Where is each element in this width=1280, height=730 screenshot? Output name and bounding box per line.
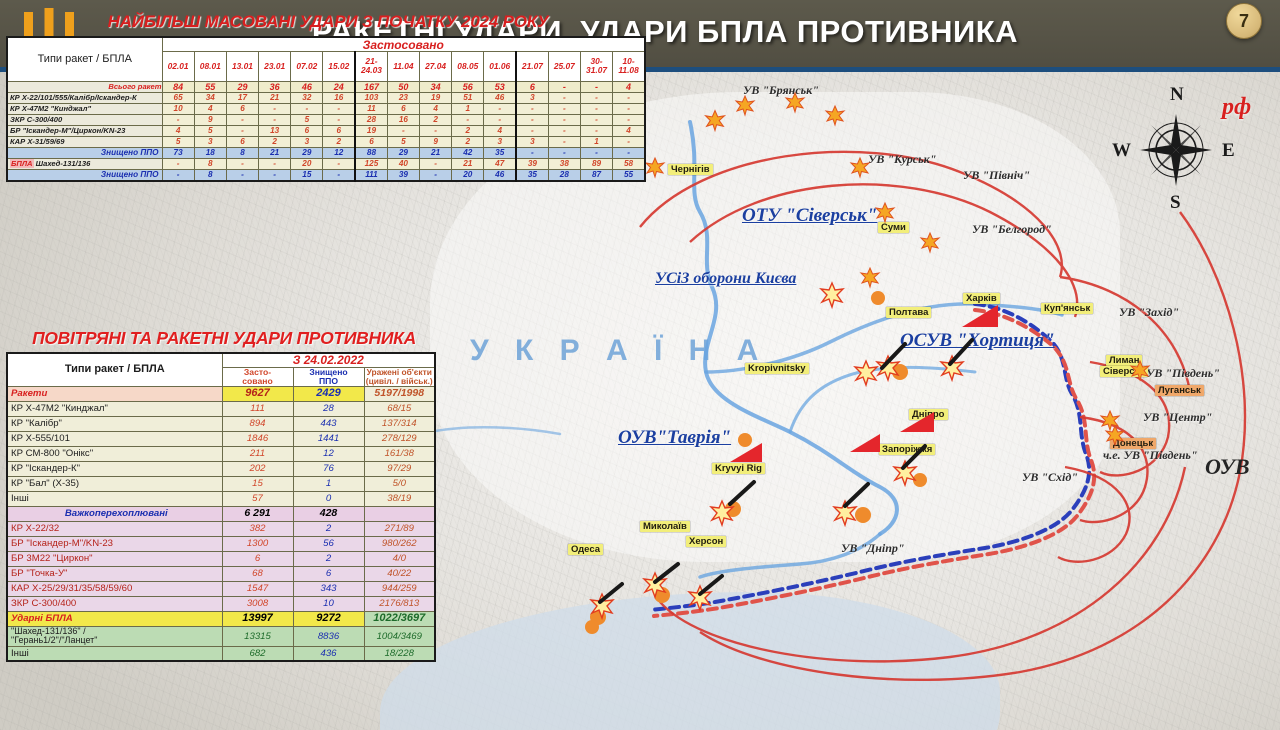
cell-destroyed: 76 bbox=[293, 461, 364, 476]
table-cell: 16 bbox=[387, 114, 419, 125]
table-cell: 3 bbox=[194, 136, 226, 147]
table-cell: 4 bbox=[194, 103, 226, 114]
table-body: Всього ракет845529364624167503456536--4К… bbox=[7, 81, 645, 181]
date-column-header: 23.01 bbox=[259, 52, 291, 81]
table-row: Всього ракет845529364624167503456536--4 bbox=[7, 81, 645, 92]
panel2-title: ПОВІТРЯНІ ТА РАКЕТНІ УДАРИ ПРОТИВНИКА bbox=[6, 328, 442, 349]
table-cell: 6 bbox=[323, 125, 355, 136]
ouv-label: ОУВ bbox=[1205, 454, 1250, 480]
table-cell: - bbox=[484, 103, 516, 114]
table-cell: 65 bbox=[162, 92, 194, 103]
row-label: Інші bbox=[7, 646, 222, 661]
col-header-applied: Засто-совано bbox=[222, 367, 293, 386]
table-cell: 29 bbox=[291, 147, 323, 158]
ru-grouping-pivden-part: ч.е. УВ "Південь" bbox=[1103, 448, 1198, 463]
table-cell: - bbox=[323, 158, 355, 169]
cell-applied: 894 bbox=[222, 416, 293, 431]
col-header-applied: Застосовано bbox=[162, 37, 645, 52]
formation-label-kyiv-defence: УСіЗ оборони Києва bbox=[655, 270, 796, 288]
table-cell: 4 bbox=[420, 103, 452, 114]
row-label: КР Х-47М2 "Кинджал" bbox=[7, 401, 222, 416]
col-header-since-date: З 24.02.2022 bbox=[222, 353, 435, 367]
cell-hit: 944/259 bbox=[364, 581, 435, 596]
table-cell: 6 bbox=[226, 103, 258, 114]
cell-applied: 382 bbox=[222, 521, 293, 536]
cell-hit: 5/0 bbox=[364, 476, 435, 491]
city-label: Луганськ bbox=[1155, 385, 1204, 396]
table-cell: 1 bbox=[452, 103, 484, 114]
table-cell: - bbox=[259, 158, 291, 169]
table-cell: 47 bbox=[484, 158, 516, 169]
cell-hit: 38/19 bbox=[364, 491, 435, 506]
table-cell: 9 bbox=[194, 114, 226, 125]
table-cell: 4 bbox=[484, 125, 516, 136]
cell-destroyed: 6 bbox=[293, 566, 364, 581]
table-cell: 2 bbox=[259, 136, 291, 147]
table-cell: - bbox=[259, 103, 291, 114]
table-cell: - bbox=[291, 103, 323, 114]
row-label: ЗКР С-300/400 bbox=[7, 596, 222, 611]
table-cell: 21 bbox=[259, 92, 291, 103]
table-cell: 4 bbox=[613, 81, 645, 92]
date-column-header: 27.04 bbox=[420, 52, 452, 81]
table-cell: 29 bbox=[226, 81, 258, 92]
cell-destroyed: 436 bbox=[293, 646, 364, 661]
table-row: КР Х-47М2 "Кинджал"1112868/15 bbox=[7, 401, 435, 416]
country-label: У К Р А Ї Н А bbox=[470, 334, 767, 368]
cell-applied: 682 bbox=[222, 646, 293, 661]
section-destroyed: 2429 bbox=[293, 386, 364, 401]
table-cell: 12 bbox=[323, 147, 355, 158]
table-cell: 28 bbox=[355, 114, 387, 125]
table-cell: 8 bbox=[194, 158, 226, 169]
section-hit: 1022/3697 bbox=[364, 611, 435, 626]
table-cell: - bbox=[259, 114, 291, 125]
city-label: Херсон bbox=[686, 536, 726, 547]
table-cell: 46 bbox=[484, 92, 516, 103]
table-cell: - bbox=[387, 125, 419, 136]
cell-destroyed: 443 bbox=[293, 416, 364, 431]
table-cell: - bbox=[548, 92, 580, 103]
table-cell: 8 bbox=[194, 169, 226, 181]
date-column-header: 21-24.03 bbox=[355, 52, 387, 81]
table-cell: 42 bbox=[452, 147, 484, 158]
cell-destroyed: 56 bbox=[293, 536, 364, 551]
city-label: Kropivnitsky bbox=[745, 363, 809, 374]
cell-applied: 57 bbox=[222, 491, 293, 506]
row-label: БР "Іскандер-М"/Циркон/KN-23 bbox=[7, 125, 162, 136]
ru-grouping-belgorod: УВ "Белгород" bbox=[972, 222, 1052, 237]
table-cell: - bbox=[548, 125, 580, 136]
date-column-header: 01.06 bbox=[484, 52, 516, 81]
table-row: КР "Бал" (Х-35)1515/0 bbox=[7, 476, 435, 491]
row-label: Знищено ППО bbox=[7, 147, 162, 158]
row-label: Всього ракет bbox=[7, 81, 162, 92]
table-cell: 3 bbox=[516, 136, 548, 147]
table-cell: 53 bbox=[484, 81, 516, 92]
table-cell: - bbox=[226, 114, 258, 125]
formation-label-tavria: ОУВ"Таврія" bbox=[618, 427, 731, 449]
cell-destroyed: 12 bbox=[293, 446, 364, 461]
table-cell: 23 bbox=[387, 92, 419, 103]
table-cell: 6 bbox=[355, 136, 387, 147]
table-cell: - bbox=[226, 125, 258, 136]
section-applied: 9627 bbox=[222, 386, 293, 401]
table-cell: 55 bbox=[613, 169, 645, 181]
col-header-type: Типи ракет / БПЛА bbox=[7, 37, 162, 81]
table-cell: - bbox=[162, 169, 194, 181]
table-cell: - bbox=[580, 147, 612, 158]
table-cell: 39 bbox=[387, 169, 419, 181]
table-cell: - bbox=[516, 147, 548, 158]
table-cell: 3 bbox=[484, 136, 516, 147]
table-cell: 4 bbox=[162, 125, 194, 136]
row-label: КР Х-22/32 bbox=[7, 521, 222, 536]
ru-grouping-dnipr: УВ "Дніпр" bbox=[841, 541, 905, 556]
table-cell: 15 bbox=[291, 169, 323, 181]
table-cell: 5 bbox=[162, 136, 194, 147]
table-cell: - bbox=[323, 103, 355, 114]
table-cell: 20 bbox=[452, 169, 484, 181]
table-cell: 9 bbox=[420, 136, 452, 147]
table-cell: - bbox=[548, 103, 580, 114]
cell-hit: 4/0 bbox=[364, 551, 435, 566]
table-cell: 40 bbox=[387, 158, 419, 169]
table-section-header: Важкоперехоплювані6 291428 bbox=[7, 506, 435, 521]
table-cell: - bbox=[516, 103, 548, 114]
row-label: КАР Х-25/29/31/35/58/59/60 bbox=[7, 581, 222, 596]
cell-hit: 2176/813 bbox=[364, 596, 435, 611]
table-cell: - bbox=[226, 169, 258, 181]
table-cell: - bbox=[420, 169, 452, 181]
date-column-header: 15.02 bbox=[323, 52, 355, 81]
table-cell: 167 bbox=[355, 81, 387, 92]
section-destroyed: 9272 bbox=[293, 611, 364, 626]
table-cell: 19 bbox=[355, 125, 387, 136]
table-cell: 6 bbox=[387, 103, 419, 114]
city-label: Дніпро bbox=[909, 409, 948, 420]
date-column-header: 13.01 bbox=[226, 52, 258, 81]
cell-hit: 40/22 bbox=[364, 566, 435, 581]
table-cell: - bbox=[420, 158, 452, 169]
section-applied: 6 291 bbox=[222, 506, 293, 521]
cell-destroyed: 1 bbox=[293, 476, 364, 491]
table-section-header: Ракети962724295197/1998 bbox=[7, 386, 435, 401]
table-cell: 51 bbox=[452, 92, 484, 103]
cell-destroyed: 28 bbox=[293, 401, 364, 416]
table-cell: 3 bbox=[516, 92, 548, 103]
table-cell: - bbox=[420, 125, 452, 136]
compass-east-label: E bbox=[1222, 140, 1235, 162]
row-label: Інші bbox=[7, 491, 222, 506]
table-cell: 19 bbox=[420, 92, 452, 103]
panel-mass-strikes-2024: НАЙБІЛЬШ МАСОВАНІ УДАРИ З ПОЧАТКУ 2024 Р… bbox=[6, 12, 650, 182]
cell-destroyed: 2 bbox=[293, 521, 364, 536]
cell-applied: 211 bbox=[222, 446, 293, 461]
table-cell: 55 bbox=[194, 81, 226, 92]
cell-applied: 111 bbox=[222, 401, 293, 416]
table-row: КР Х-22/101/555/Калібр/Іскандер-К6534172… bbox=[7, 92, 645, 103]
table-cell: 50 bbox=[387, 81, 419, 92]
ru-grouping-bryansk: УВ "Брянськ" bbox=[743, 83, 819, 98]
table-cell: - bbox=[613, 147, 645, 158]
table-row: "Шахед-131/136" /"Герань1/2"/"Ланцет"133… bbox=[7, 626, 435, 646]
table-cell: 34 bbox=[420, 81, 452, 92]
table-cell: 13 bbox=[259, 125, 291, 136]
col-header-type: Типи ракет / БПЛА bbox=[7, 353, 222, 386]
table-cell: 21 bbox=[452, 158, 484, 169]
table-row: БР 3М22 "Циркон"624/0 bbox=[7, 551, 435, 566]
ru-grouping-skhid: УВ "Схід" bbox=[1022, 470, 1078, 485]
table-cell: 38 bbox=[548, 158, 580, 169]
table-cell: 84 bbox=[162, 81, 194, 92]
date-column-header: 08.01 bbox=[194, 52, 226, 81]
table-cell: 73 bbox=[162, 147, 194, 158]
section-hit: 5197/1998 bbox=[364, 386, 435, 401]
date-column-header: 02.01 bbox=[162, 52, 194, 81]
table-cell: 6 bbox=[516, 81, 548, 92]
table-row: КР Х-22/323822271/89 bbox=[7, 521, 435, 536]
table-row: КАР Х-31/59/69536232659233-1- bbox=[7, 136, 645, 147]
table-cell: - bbox=[516, 114, 548, 125]
table-cell: 46 bbox=[291, 81, 323, 92]
ru-grouping-tsentr: УВ "Центр" bbox=[1143, 410, 1212, 425]
russia-label: рф bbox=[1222, 94, 1251, 121]
date-column-header: 08.05 bbox=[452, 52, 484, 81]
table-head: Типи ракет / БПЛА Застосовано 02.0108.01… bbox=[7, 37, 645, 81]
table-body: Ракети962724295197/1998КР Х-47М2 "Кинджа… bbox=[7, 386, 435, 661]
table-section-header: Ударні БПЛА1399792721022/3697 bbox=[7, 611, 435, 626]
cell-applied: 1547 bbox=[222, 581, 293, 596]
table-cell: - bbox=[548, 147, 580, 158]
table-row: Знищено ППО731882129128829214235---- bbox=[7, 147, 645, 158]
table-cell: - bbox=[548, 114, 580, 125]
table-cell: 5 bbox=[387, 136, 419, 147]
date-column-header: 30-31.07 bbox=[580, 52, 612, 81]
table-row: Інші57038/19 bbox=[7, 491, 435, 506]
compass-west-label: W bbox=[1112, 140, 1131, 162]
section-destroyed: 428 bbox=[293, 506, 364, 521]
city-label: Чернігів bbox=[668, 164, 713, 175]
cell-destroyed: 10 bbox=[293, 596, 364, 611]
table-cell: - bbox=[323, 114, 355, 125]
slide-number-badge: 7 bbox=[1226, 3, 1262, 39]
cell-destroyed: 0 bbox=[293, 491, 364, 506]
table-cell: 17 bbox=[226, 92, 258, 103]
city-label: Одеса bbox=[568, 544, 603, 555]
cell-applied: 6 bbox=[222, 551, 293, 566]
table-cell: 11 bbox=[355, 103, 387, 114]
compass-rose-icon bbox=[1138, 112, 1214, 188]
table-row: БР "Точка-У"68640/22 bbox=[7, 566, 435, 581]
cell-applied: 202 bbox=[222, 461, 293, 476]
table-cell: - bbox=[226, 158, 258, 169]
ru-grouping-zakhid: УВ "Захід" bbox=[1119, 305, 1179, 320]
table-cell: 24 bbox=[323, 81, 355, 92]
table-cell: 87 bbox=[580, 169, 612, 181]
row-label: КАР Х-31/59/69 bbox=[7, 136, 162, 147]
formation-label-siversk: ОТУ "Сіверськ" bbox=[742, 205, 877, 227]
table-cell: 89 bbox=[580, 158, 612, 169]
table-mass-strikes[interactable]: Типи ракет / БПЛА Застосовано 02.0108.01… bbox=[6, 36, 646, 182]
table-cell: - bbox=[259, 169, 291, 181]
table-row: БР "Іскандер-М"/KN-23130056980/262 bbox=[7, 536, 435, 551]
table-cell: - bbox=[323, 169, 355, 181]
city-label: Суми bbox=[878, 222, 909, 233]
city-label: Лиман bbox=[1106, 355, 1142, 366]
formation-label-khortytsia: ОСУВ "Хортиця" bbox=[900, 330, 1055, 352]
cell-hit: 161/38 bbox=[364, 446, 435, 461]
table-cell: - bbox=[162, 114, 194, 125]
cell-destroyed: 343 bbox=[293, 581, 364, 596]
table-row: КР "Іскандер-К"2027697/29 bbox=[7, 461, 435, 476]
table-cell: 10 bbox=[162, 103, 194, 114]
row-label: "Шахед-131/136" /"Герань1/2"/"Ланцет" bbox=[7, 626, 222, 646]
table-cell: - bbox=[548, 136, 580, 147]
table-cell: 34 bbox=[194, 92, 226, 103]
table-cell: 56 bbox=[452, 81, 484, 92]
city-label: Харків bbox=[963, 293, 1000, 304]
section-label: Ударні БПЛА bbox=[7, 611, 222, 626]
city-label: Полтава bbox=[886, 307, 931, 318]
table-cell: 125 bbox=[355, 158, 387, 169]
table-row: КАР Х-25/29/31/35/58/59/601547343944/259 bbox=[7, 581, 435, 596]
row-label: БР "Точка-У" bbox=[7, 566, 222, 581]
cell-hit: 137/314 bbox=[364, 416, 435, 431]
city-label: Миколаїв bbox=[640, 521, 690, 532]
table-row: ЗКР С-300/400-9--5-28162------ bbox=[7, 114, 645, 125]
table-cell: 2 bbox=[452, 136, 484, 147]
table-row: БПЛА Шахед-131/136-8--20-12540-214739388… bbox=[7, 158, 645, 169]
table-cell: 16 bbox=[323, 92, 355, 103]
table-cell: - bbox=[452, 114, 484, 125]
city-label: Донецьк bbox=[1110, 438, 1156, 449]
table-cell: 6 bbox=[291, 125, 323, 136]
ru-grouping-kursk: УВ "Курськ" bbox=[868, 152, 936, 167]
row-label: КР Х-555/101 bbox=[7, 431, 222, 446]
date-column-header: 10-11.08 bbox=[613, 52, 645, 81]
city-label: Запоріжжя bbox=[879, 444, 935, 455]
table-cell: 20 bbox=[291, 158, 323, 169]
table-cell: 29 bbox=[387, 147, 419, 158]
table-cell: - bbox=[580, 125, 612, 136]
table-cell: 103 bbox=[355, 92, 387, 103]
table-row: КР Х-555/10118461441278/129 bbox=[7, 431, 435, 446]
table-cell: 1 bbox=[580, 136, 612, 147]
table-cell: - bbox=[580, 114, 612, 125]
table-cell: 35 bbox=[484, 147, 516, 158]
table-cell: 2 bbox=[452, 125, 484, 136]
row-label: Знищено ППО bbox=[7, 169, 162, 181]
row-label: КР СМ-800 "Онікс" bbox=[7, 446, 222, 461]
date-column-header: 07.02 bbox=[291, 52, 323, 81]
cell-hit: 68/15 bbox=[364, 401, 435, 416]
table-total-strikes[interactable]: Типи ракет / БПЛА З 24.02.2022 Засто-сов… bbox=[6, 352, 436, 662]
table-cell: 58 bbox=[613, 158, 645, 169]
table-cell: 4 bbox=[613, 125, 645, 136]
row-label: КР "Іскандер-К" bbox=[7, 461, 222, 476]
compass-north-label: N bbox=[1170, 84, 1184, 106]
ru-grouping-pivnich: УВ "Північ" bbox=[963, 168, 1030, 183]
cell-destroyed: 2 bbox=[293, 551, 364, 566]
row-label: БР "Іскандер-М"/KN-23 bbox=[7, 536, 222, 551]
table-cell: 32 bbox=[291, 92, 323, 103]
section-hit bbox=[364, 506, 435, 521]
table-cell: 39 bbox=[516, 158, 548, 169]
table-cell: 21 bbox=[420, 147, 452, 158]
row-label: БР 3М22 "Циркон" bbox=[7, 551, 222, 566]
city-label: Куп'янськ bbox=[1041, 303, 1093, 314]
cell-destroyed: 8836 bbox=[293, 626, 364, 646]
table-head-row-group: Типи ракет / БПЛА Застосовано bbox=[7, 37, 645, 52]
row-label: КР Х-22/101/555/Калібр/Іскандер-К bbox=[7, 92, 162, 103]
table-cell: 6 bbox=[226, 136, 258, 147]
table-cell: - bbox=[613, 92, 645, 103]
table-cell: 2 bbox=[323, 136, 355, 147]
row-label: ЗКР С-300/400 bbox=[7, 114, 162, 125]
table-cell: 8 bbox=[226, 147, 258, 158]
date-column-header: 25.07 bbox=[548, 52, 580, 81]
table-cell: 2 bbox=[420, 114, 452, 125]
table-cell: - bbox=[548, 81, 580, 92]
table-cell: - bbox=[613, 103, 645, 114]
panel-strikes-since-2022: ПОВІТРЯНІ ТА РАКЕТНІ УДАРИ ПРОТИВНИКА Ти… bbox=[6, 328, 442, 662]
cell-hit: 18/228 bbox=[364, 646, 435, 661]
table-cell: 5 bbox=[194, 125, 226, 136]
table-cell: 3 bbox=[291, 136, 323, 147]
table-row: ЗКР С-300/4003008102176/813 bbox=[7, 596, 435, 611]
table-cell: - bbox=[580, 92, 612, 103]
cell-applied: 1846 bbox=[222, 431, 293, 446]
table-row: КР Х-47М2 "Кинджал"1046---11641----- bbox=[7, 103, 645, 114]
cell-applied: 1300 bbox=[222, 536, 293, 551]
cell-hit: 97/29 bbox=[364, 461, 435, 476]
col-header-destroyed: ЗнищеноППО bbox=[293, 367, 364, 386]
cell-hit: 1004/3469 bbox=[364, 626, 435, 646]
cell-destroyed: 1441 bbox=[293, 431, 364, 446]
table-cell: 5 bbox=[291, 114, 323, 125]
table-cell: - bbox=[613, 114, 645, 125]
table-cell: - bbox=[484, 114, 516, 125]
panel1-title: НАЙБІЛЬШ МАСОВАНІ УДАРИ З ПОЧАТКУ 2024 Р… bbox=[6, 12, 650, 32]
table-cell: - bbox=[580, 103, 612, 114]
row-label: БПЛА Шахед-131/136 bbox=[7, 158, 162, 169]
city-label: Сіверськ bbox=[1100, 366, 1148, 377]
row-label: КР "Калібр" bbox=[7, 416, 222, 431]
table-cell: - bbox=[580, 81, 612, 92]
city-label: Kryvyi Rig bbox=[712, 463, 765, 474]
table-head: Типи ракет / БПЛА З 24.02.2022 Засто-сов… bbox=[7, 353, 435, 386]
cell-hit: 980/262 bbox=[364, 536, 435, 551]
cell-applied: 13315 bbox=[222, 626, 293, 646]
table-row: КР "Калібр"894443137/314 bbox=[7, 416, 435, 431]
section-label: Ракети bbox=[7, 386, 222, 401]
table-cell: 35 bbox=[516, 169, 548, 181]
cell-hit: 271/89 bbox=[364, 521, 435, 536]
table-cell: 46 bbox=[484, 169, 516, 181]
table-cell: 88 bbox=[355, 147, 387, 158]
cell-applied: 15 bbox=[222, 476, 293, 491]
date-column-header: 11.04 bbox=[387, 52, 419, 81]
table-cell: 21 bbox=[259, 147, 291, 158]
cell-applied: 68 bbox=[222, 566, 293, 581]
row-label: КР "Бал" (Х-35) bbox=[7, 476, 222, 491]
table-cell: 36 bbox=[259, 81, 291, 92]
table-row: КР СМ-800 "Онікс"21112161/38 bbox=[7, 446, 435, 461]
table-row: Знищено ППО-8--15-11139-204635288755 bbox=[7, 169, 645, 181]
section-label: Важкоперехоплювані bbox=[7, 506, 222, 521]
cell-applied: 3008 bbox=[222, 596, 293, 611]
